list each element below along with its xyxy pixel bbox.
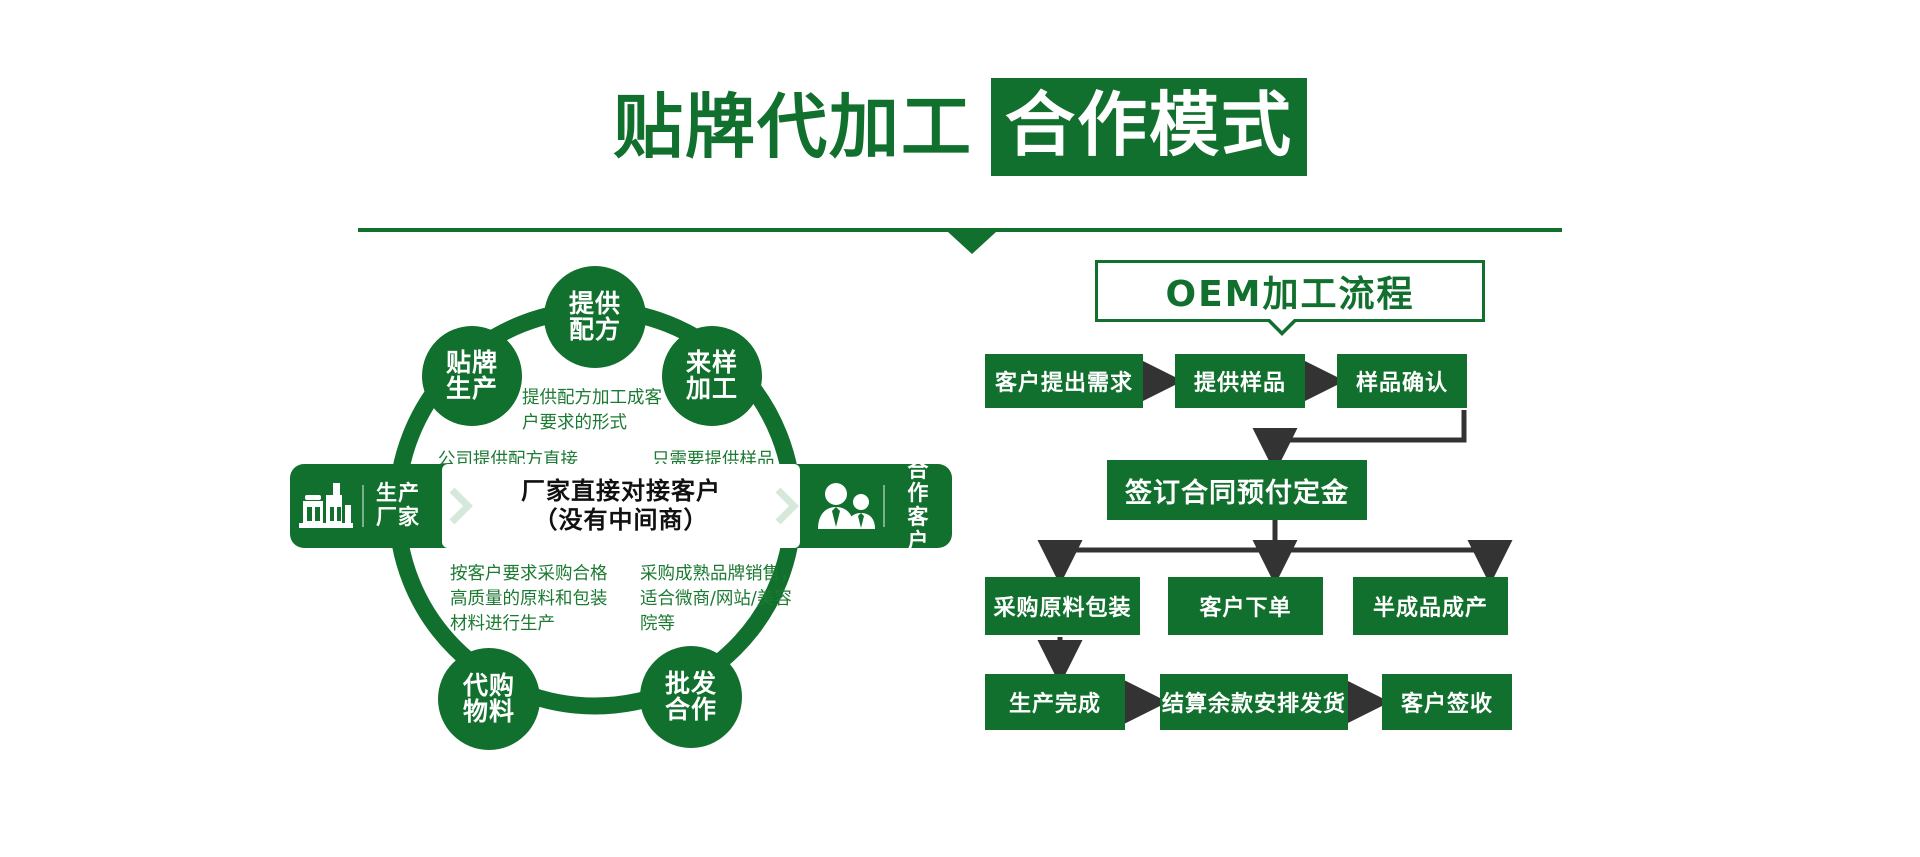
flowchart: OEM加工流程 — [985, 262, 1565, 782]
circle-node-bottom-right-line1: 批发 — [665, 671, 717, 697]
circle-desc-bottom-left: 按客户要求采购合格 高质量的原料和包装 材料进行生产 — [450, 562, 608, 637]
circle-node-top-left[interactable]: 贴牌 生产 — [422, 326, 522, 426]
factory-icon — [290, 481, 362, 531]
center-bar-message: 厂家直接对接客户 （没有中间商） — [442, 464, 800, 548]
center-bar: 生产 厂家 厂家直接对接客户 （没有中间商） — [290, 464, 952, 548]
title-divider-notch-icon — [948, 232, 996, 254]
flow-box-semi-finished[interactable]: 半成品成产 — [1353, 577, 1508, 635]
circle-diagram: 提供 配方 贴牌 生产 来样 加工 代购 物料 批发 合作 提供配方加工成客 户… — [340, 268, 900, 808]
flowchart-title-box: OEM加工流程 — [1095, 260, 1485, 322]
circle-node-bottom-left-line1: 代购 — [463, 673, 515, 699]
circle-node-top-line2: 配方 — [569, 317, 621, 343]
flow-box-customer-request[interactable]: 客户提出需求 — [985, 354, 1143, 408]
flow-box-purchase-materials[interactable]: 采购原料包装 — [985, 577, 1140, 635]
page-title: 贴牌代加工 合作模式 — [0, 78, 1920, 176]
chevron-right-icon-right — [774, 488, 800, 524]
circle-node-top-right-line2: 加工 — [686, 376, 738, 402]
flow-box-customer-order[interactable]: 客户下单 — [1168, 577, 1323, 635]
circle-node-bottom-left[interactable]: 代购 物料 — [438, 648, 540, 750]
page-title-highlight: 合作模式 — [991, 78, 1307, 176]
flowchart-title-notch-inner-icon — [1269, 318, 1295, 331]
chevron-right-icon-left — [448, 488, 474, 524]
flow-box-production-done[interactable]: 生产完成 — [985, 674, 1125, 730]
page-title-plain: 贴牌代加工 — [613, 92, 991, 162]
center-bar-right-label: 合作 客户 — [885, 459, 952, 553]
center-bar-left-label: 生产 厂家 — [364, 482, 432, 529]
flow-box-settle-and-ship[interactable]: 结算余款安排发货 — [1160, 674, 1348, 730]
circle-node-top-right[interactable]: 来样 加工 — [662, 326, 762, 426]
circle-node-bottom-right-line2: 合作 — [665, 697, 717, 723]
circle-desc-bottom-right: 采购成熟品牌销售， 适合微商/网站/美容 院等 — [640, 562, 798, 637]
flow-box-sample-confirm[interactable]: 样品确认 — [1337, 354, 1467, 408]
flowchart-title: OEM加工流程 — [1165, 265, 1414, 317]
circle-node-bottom-left-line2: 物料 — [463, 699, 515, 725]
circle-node-top-line1: 提供 — [569, 291, 621, 317]
flow-box-sign-contract-deposit[interactable]: 签订合同预付定金 — [1107, 460, 1367, 520]
circle-node-bottom-right[interactable]: 批发 合作 — [640, 646, 742, 748]
flow-box-customer-receipt[interactable]: 客户签收 — [1382, 674, 1512, 730]
customers-icon — [812, 481, 883, 531]
circle-desc-top: 提供配方加工成客 户要求的形式 — [522, 386, 662, 436]
circle-node-top-left-line1: 贴牌 — [446, 350, 498, 376]
center-bar-message-text: 厂家直接对接客户 （没有中间商） — [521, 477, 721, 535]
circle-node-top[interactable]: 提供 配方 — [544, 266, 646, 368]
page-root: 贴牌代加工 合作模式 提供 配方 贴牌 生产 来样 加工 代购 物料 批发 合作 — [0, 0, 1920, 857]
flow-box-provide-sample[interactable]: 提供样品 — [1175, 354, 1305, 408]
circle-node-top-right-line1: 来样 — [686, 350, 738, 376]
circle-node-top-left-line2: 生产 — [446, 376, 498, 402]
